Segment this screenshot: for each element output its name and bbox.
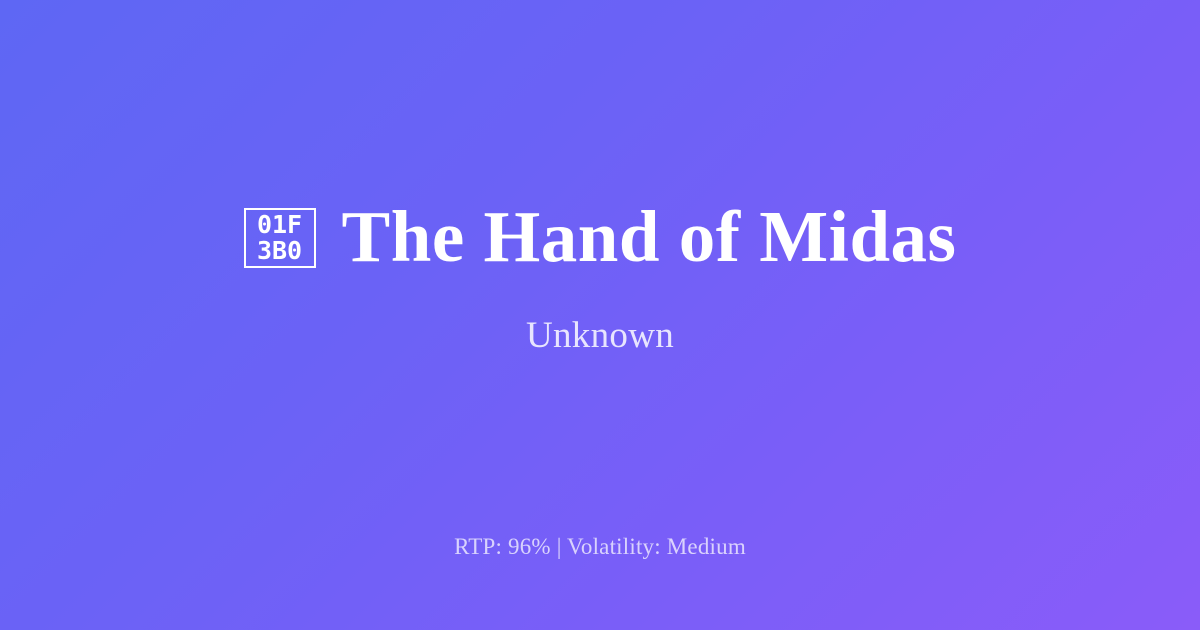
codepoint-top: 01F [257, 212, 302, 238]
title-row: 01F 3B0 The Hand of Midas [244, 200, 957, 273]
provider-subtitle: Unknown [526, 317, 674, 354]
game-meta-stats: RTP: 96% | Volatility: Medium [454, 535, 746, 630]
game-preview-card: 01F 3B0 The Hand of Midas Unknown RTP: 9… [0, 0, 1200, 630]
slot-machine-icon: 01F 3B0 [244, 208, 316, 268]
hero-section: 01F 3B0 The Hand of Midas Unknown [0, 0, 1200, 535]
codepoint-bottom: 3B0 [257, 238, 302, 264]
page-title: The Hand of Midas [342, 200, 957, 273]
